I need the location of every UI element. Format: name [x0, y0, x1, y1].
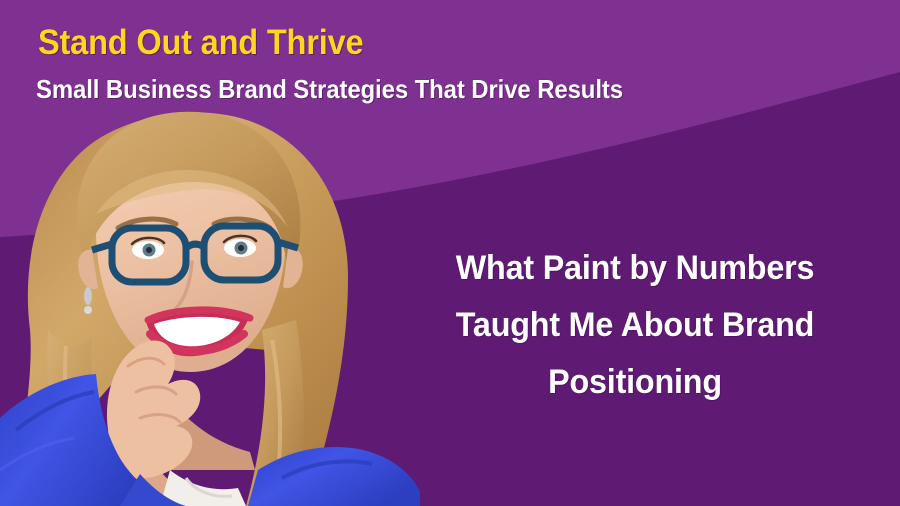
slide-headline: What Paint by Numbers Taught Me About Br…: [390, 240, 880, 411]
headline-line-2: Taught Me About Brand: [402, 297, 868, 354]
headline-line-1: What Paint by Numbers: [402, 240, 868, 297]
earring-decor: [84, 287, 92, 314]
slide-subtitle: Small Business Brand Strategies That Dri…: [36, 76, 623, 103]
headline-line-3: Positioning: [402, 354, 868, 411]
presentation-slide: Stand Out and Thrive Small Business Bran…: [0, 0, 900, 506]
slide-kicker-title: Stand Out and Thrive: [38, 25, 363, 61]
